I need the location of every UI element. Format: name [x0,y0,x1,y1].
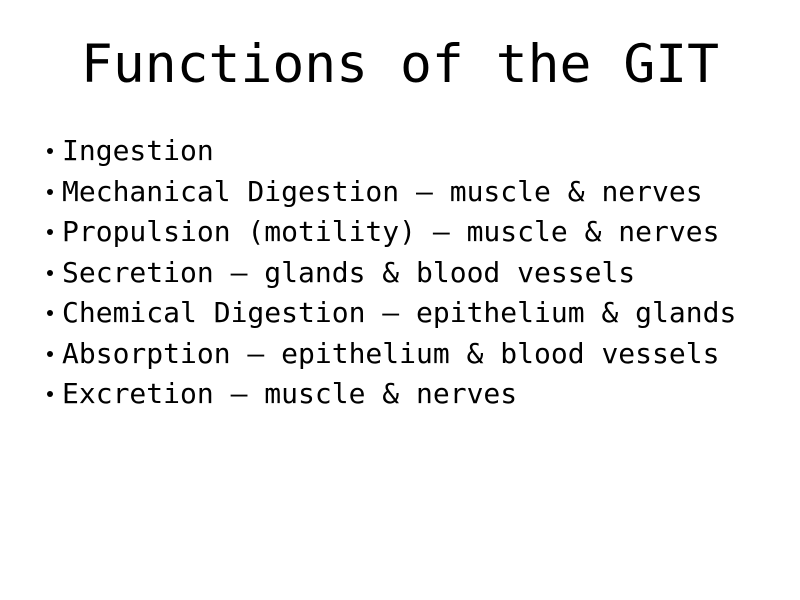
bullet-dot-icon [47,391,53,397]
list-item-label: Absorption – epithelium & blood vessels [62,334,719,375]
list-item: Mechanical Digestion – muscle & nerves [44,172,784,213]
list-item: Propulsion (motility) – muscle & nerves [44,212,784,253]
bullet-dot-icon [47,351,53,357]
bullet-dot-icon [47,189,53,195]
slide-canvas: Functions of the GIT Ingestion Mechanica… [0,0,800,600]
bullet-dot-icon [47,148,53,154]
bullet-list: Ingestion Mechanical Digestion – muscle … [44,131,784,415]
page-title: Functions of the GIT [0,36,800,94]
list-item-label: Chemical Digestion – epithelium & glands [62,293,736,334]
list-item-label: Mechanical Digestion – muscle & nerves [62,172,703,213]
list-item: Ingestion [44,131,784,172]
list-item-label: Excretion – muscle & nerves [62,374,517,415]
list-item: Absorption – epithelium & blood vessels [44,334,784,375]
bullet-dot-icon [47,310,53,316]
list-item: Chemical Digestion – epithelium & glands [44,293,784,334]
bullet-dot-icon [47,270,53,276]
list-item-label: Propulsion (motility) – muscle & nerves [62,212,719,253]
list-item-label: Ingestion [62,131,214,172]
bullet-dot-icon [47,229,53,235]
list-item-label: Secretion – glands & blood vessels [62,253,635,294]
list-item: Excretion – muscle & nerves [44,374,784,415]
list-item: Secretion – glands & blood vessels [44,253,784,294]
